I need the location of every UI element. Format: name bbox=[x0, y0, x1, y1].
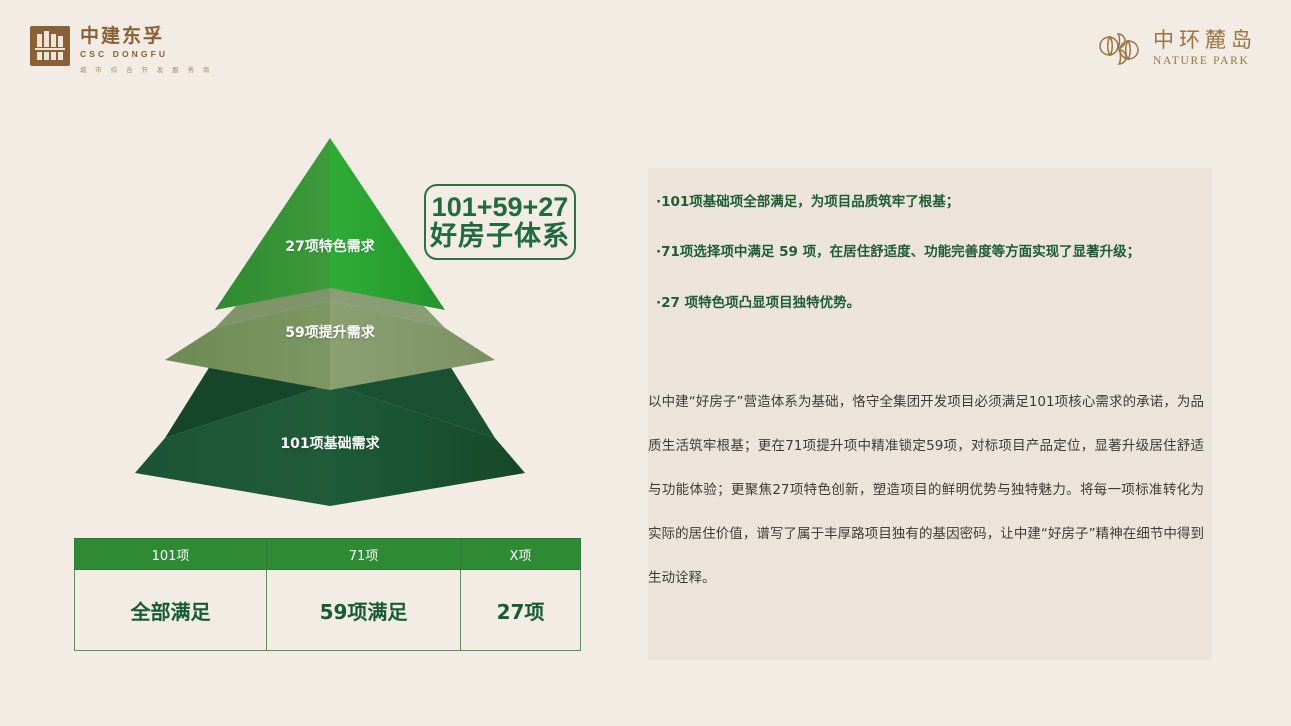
corporate-logo-left: 中建东孚 CSC DONGFU 城 市 综 合 开 发 服 务 商 bbox=[30, 26, 213, 74]
table-row: 全部满足 59项满足 27项 bbox=[75, 570, 581, 651]
corporate-logo-left-text: 中建东孚 CSC DONGFU 城 市 综 合 开 发 服 务 商 bbox=[80, 26, 213, 74]
table-header-row: 101项 71项 X项 bbox=[75, 539, 581, 570]
pyramid-tier-top bbox=[215, 138, 445, 310]
description-panel: ·101项基础项全部满足，为项目品质筑牢了根基； ·71项选择项中满足 59 项… bbox=[648, 168, 1212, 660]
bullet-list: ·101项基础项全部满足，为项目品质筑牢了根基； ·71项选择项中满足 59 项… bbox=[656, 192, 1198, 343]
project-logo-right-text: 中环麓岛 NATURE PARK bbox=[1153, 29, 1257, 66]
pyramid-label-middle: 59项提升需求 bbox=[120, 322, 540, 342]
bullet-item: ·27 项特色项凸显项目独特优势。 bbox=[656, 293, 1198, 313]
system-badge: 101+59+27 好房子体系 bbox=[424, 184, 576, 260]
table-cell: 59项满足 bbox=[267, 570, 461, 651]
pyramid-label-base: 101项基础需求 bbox=[120, 433, 540, 453]
csc-dongfu-emblem-icon bbox=[30, 26, 70, 66]
leaf-cluster-icon bbox=[1096, 28, 1142, 68]
summary-table: 101项 71项 X项 全部满足 59项满足 27项 bbox=[74, 538, 581, 651]
corporate-logo-left-en: CSC DONGFU bbox=[80, 49, 213, 59]
project-logo-right: 中环麓岛 NATURE PARK bbox=[1096, 28, 1257, 68]
description-paragraph: 以中建“好房子”营造体系为基础，恪守全集团开发项目必须满足101项核心需求的承诺… bbox=[648, 380, 1204, 600]
table-header-cell: X项 bbox=[461, 539, 581, 570]
project-logo-right-cn: 中环麓岛 bbox=[1153, 29, 1257, 52]
project-logo-right-en: NATURE PARK bbox=[1153, 55, 1257, 67]
system-badge-title: 好房子体系 bbox=[430, 222, 570, 252]
corporate-logo-left-cn: 中建东孚 bbox=[80, 27, 213, 47]
corporate-logo-left-slogan: 城 市 综 合 开 发 服 务 商 bbox=[80, 64, 213, 74]
system-badge-formula: 101+59+27 bbox=[432, 192, 569, 222]
table-header-cell: 71项 bbox=[267, 539, 461, 570]
table-header-cell: 101项 bbox=[75, 539, 267, 570]
bullet-item: ·71项选择项中满足 59 项，在居住舒适度、功能完善度等方面实现了显著升级； bbox=[656, 242, 1198, 262]
bullet-item: ·101项基础项全部满足，为项目品质筑牢了根基； bbox=[656, 192, 1198, 212]
table-cell: 27项 bbox=[461, 570, 581, 651]
table-cell: 全部满足 bbox=[75, 570, 267, 651]
